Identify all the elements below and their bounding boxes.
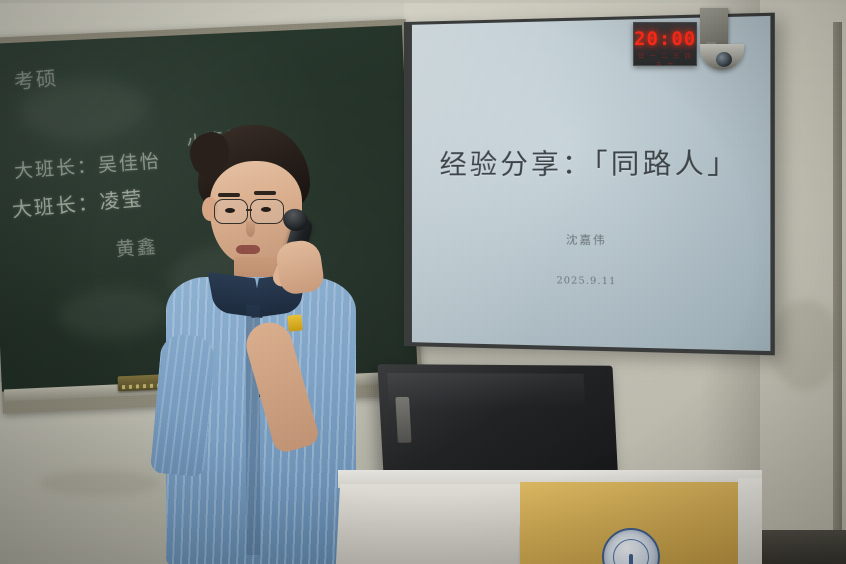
classroom-photo: 考硕大班长：吴佳怡大班长：凌莹黄鑫小班长范楚阳王诘 经验分享：「同路人」 沈嘉伟…	[0, 0, 846, 564]
led-clock: 20:00 日 一 二 三 四 五 六	[633, 22, 697, 66]
clock-weekday-row: 日 一 二 三 四 五 六	[634, 51, 696, 66]
chalk-line: 大班长：吴佳怡	[13, 146, 162, 183]
wall-scuff	[40, 470, 160, 496]
chalk-line: 大班长：凌莹	[11, 182, 145, 223]
wall-scuff	[770, 300, 840, 390]
eyeglasses-bridge	[246, 209, 252, 211]
nose	[246, 221, 255, 237]
camera-lens-icon	[716, 52, 732, 67]
eye-right	[261, 207, 271, 212]
eye-left	[225, 208, 235, 213]
lectern-right-edge	[738, 478, 762, 564]
eyebrow-right	[254, 191, 276, 195]
monitor-sheen	[387, 373, 585, 410]
slide-title: 经验分享：「同路人」	[412, 141, 770, 182]
camera-bracket	[700, 8, 728, 46]
lectern-left-body	[336, 484, 522, 564]
emblem-mark	[629, 554, 633, 564]
hand-holding-microphone	[275, 238, 326, 296]
chalk-smudge	[18, 77, 151, 143]
jersey-badge	[287, 314, 303, 331]
mouth	[236, 245, 260, 254]
eyebrow-left	[218, 193, 240, 197]
clock-time: 20:00	[634, 28, 696, 50]
monitor-brand-label	[395, 397, 411, 443]
door-frame	[833, 22, 842, 542]
